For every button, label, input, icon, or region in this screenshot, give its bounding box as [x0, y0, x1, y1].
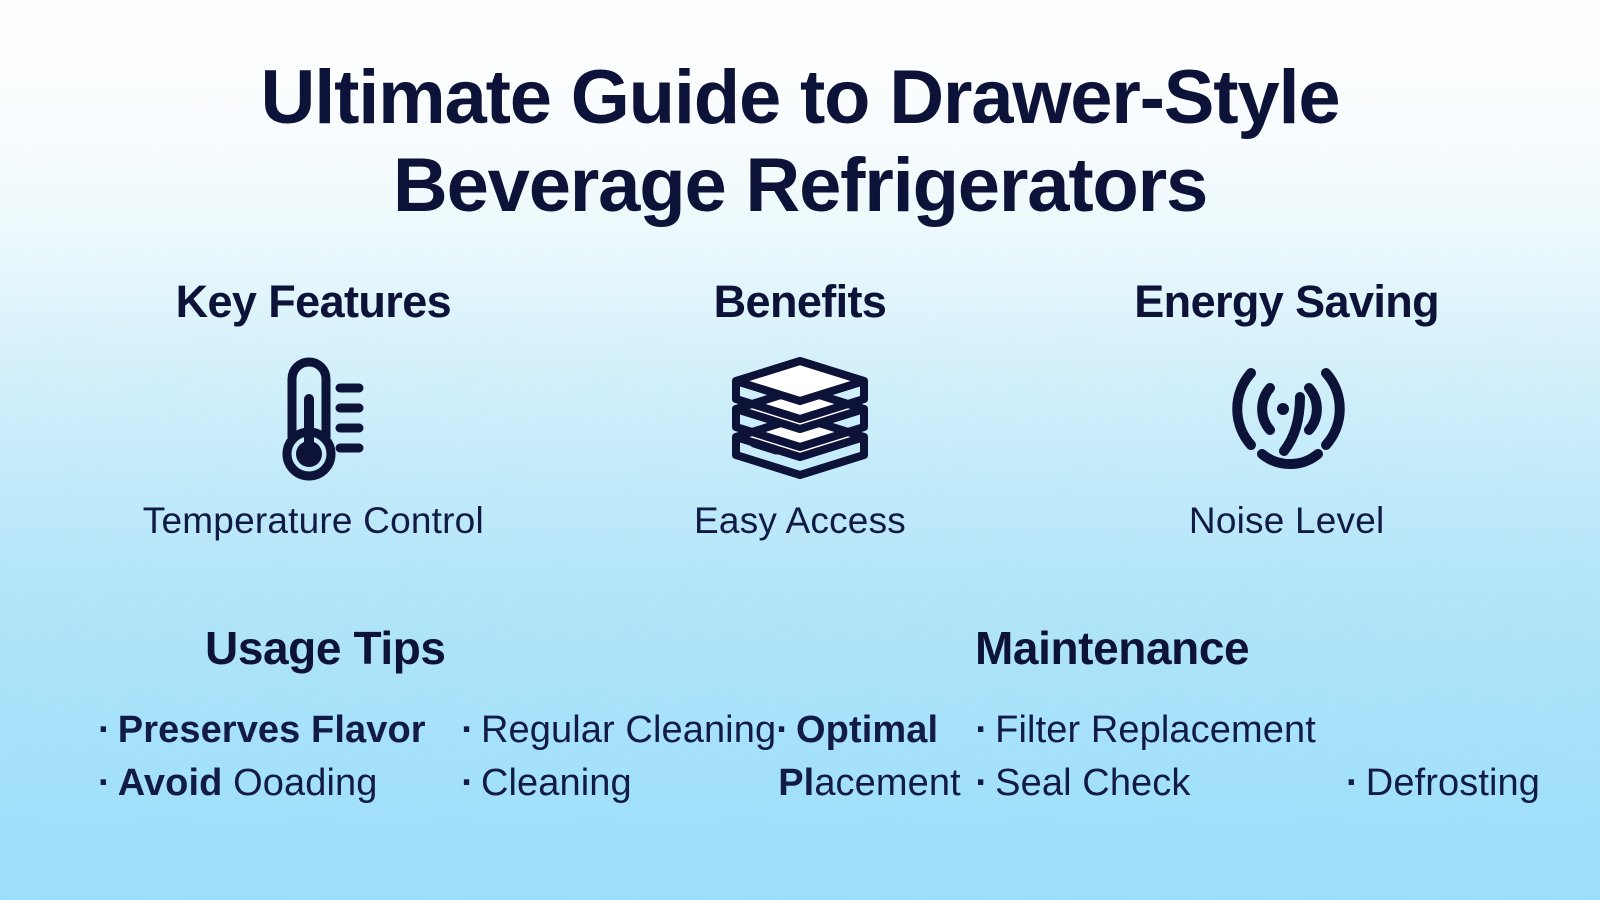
title-line-1: Ultimate Guide to Drawer-Style [0, 54, 1600, 142]
section-heading-maintenance: Maintenance [975, 620, 1249, 676]
maintenance-col-1: ·Optimal Placement [776, 704, 975, 810]
title-line-2: Beverage Refrigerators [0, 142, 1600, 230]
list-item-light: acement [814, 762, 960, 804]
maintenance-col-3: ·Defrosting [1346, 704, 1540, 810]
list-item-strong: Avoid [118, 762, 223, 804]
feature-card-energy-saving: Energy Saving [1043, 275, 1530, 543]
feature-heading-benefits: Benefits [714, 275, 887, 329]
list-item-light: Defrosting [1366, 762, 1540, 804]
bullet-dot: · [98, 762, 111, 804]
list-item-light: Filter Replacement [995, 709, 1316, 751]
bullet-dot: · [975, 762, 988, 804]
infographic-canvas: Ultimate Guide to Drawer-Style Beverage … [0, 0, 1600, 900]
thermometer-icon [254, 351, 372, 481]
bullet-dot: · [461, 762, 474, 804]
bullet-dot: · [1346, 762, 1359, 804]
list-item: ·Seal Check [975, 757, 1346, 810]
bullet-dot: · [975, 709, 988, 751]
feature-label-noise-level: Noise Level [1189, 499, 1385, 543]
list-item: ·Cleaning [461, 757, 776, 810]
list-item-light: Regular Cleaning [481, 709, 776, 751]
list-item-strong: Optimal [796, 709, 938, 751]
maintenance-col-2: ·Filter Replacement ·Seal Check [975, 704, 1346, 810]
stacked-drawers-icon [724, 351, 876, 481]
feature-label-temperature-control: Temperature Control [143, 499, 484, 543]
usage-col-1: ·Preserves Flavor ·Avoid Ooading [98, 704, 461, 810]
list-item-light: Cleaning [481, 762, 632, 804]
bullet-dot: · [776, 709, 789, 751]
feature-card-benefits: Benefits Easy Access [557, 275, 1044, 543]
list-item: ·Regular Cleaning [461, 704, 776, 757]
section-heading-usage-tips: Usage Tips [205, 620, 446, 676]
list-item-continuation: Placement [776, 757, 975, 810]
list-item: ·Avoid Ooading [98, 757, 461, 810]
list-item: ·Preserves Flavor [98, 704, 461, 757]
list-item: ·Defrosting [1346, 757, 1540, 810]
bullet-row: ·Preserves Flavor ·Avoid Ooading ·Regula… [98, 704, 1540, 810]
page-title: Ultimate Guide to Drawer-Style Beverage … [0, 54, 1600, 230]
feature-card-key-features: Key Features Temper [70, 275, 557, 543]
list-item-light: Seal Check [995, 762, 1190, 804]
feature-row: Key Features Temper [70, 275, 1530, 543]
list-item-spacer [1346, 704, 1540, 757]
feature-heading-key-features: Key Features [176, 275, 451, 329]
feature-label-easy-access: Easy Access [694, 499, 906, 543]
list-item-strong: Pl [778, 762, 814, 804]
signal-waves-icon [1221, 351, 1353, 481]
list-item: ·Optimal [776, 704, 975, 757]
feature-heading-energy-saving: Energy Saving [1134, 275, 1439, 329]
usage-col-2: ·Regular Cleaning ·Cleaning [461, 704, 776, 810]
list-item-light: Ooading [233, 762, 377, 804]
bullet-dot: · [461, 709, 474, 751]
list-item-strong: Preserves Flavor [118, 709, 426, 751]
bullet-dot: · [98, 709, 111, 751]
list-item: ·Filter Replacement [975, 704, 1346, 757]
